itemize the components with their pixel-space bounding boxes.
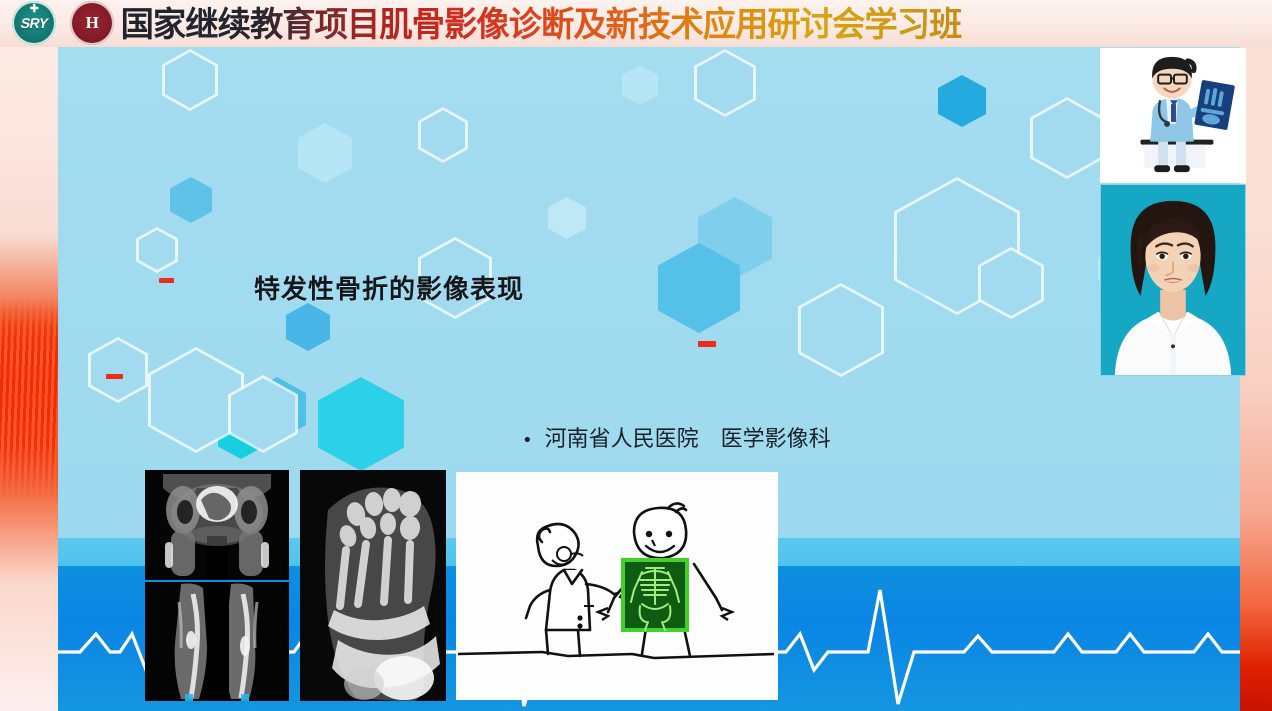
annotation-mark (106, 374, 123, 379)
hexagon-outline-icon (88, 337, 148, 403)
banner-title: 国家继续教育项目肌骨影像诊断及新技术应用研讨会学习班 (121, 0, 962, 45)
banner-logo-group: SRY H (12, 1, 114, 45)
event-banner: SRY H 国家继续教育项目肌骨影像诊断及新技术应用研讨会学习班 (0, 0, 1272, 47)
presentation-slide: 特发性骨折的影像表现 •河南省人民医院 医学影像科 •张旭静 (58, 47, 1240, 711)
hexagon-filled-icon (698, 197, 772, 279)
hexagon-filled-icon (298, 123, 352, 183)
annotation-mark (698, 341, 716, 347)
hexagon-outline-icon (162, 49, 218, 111)
sry-logo-text: SRY (19, 15, 49, 31)
hexagon-outline-icon (798, 283, 884, 377)
hexagon-filled-icon (908, 261, 940, 297)
hexagon-filled-icon (318, 377, 404, 471)
hexagon-filled-icon (248, 377, 306, 441)
hexagon-outline-icon (228, 375, 298, 453)
hexagon-outline-icon (694, 49, 756, 117)
hexagon-filled-icon (286, 303, 330, 351)
mri-legs-image (145, 582, 289, 701)
henan-logo-text: H (86, 13, 99, 33)
sry-hospital-logo: SRY (12, 1, 56, 45)
hexagon-filled-icon (218, 409, 264, 459)
hexagon-filled-icon (548, 197, 586, 239)
presenter-portrait (1101, 185, 1245, 375)
doctor-illustration-icon (1101, 49, 1245, 182)
hexagon-outline-icon (1030, 97, 1104, 179)
page-title: 特发性骨折的影像表现 (254, 269, 524, 306)
doctor-patient-cartoon (456, 472, 778, 700)
presenter-camera-tile[interactable] (1100, 184, 1246, 376)
background-left-texture (0, 300, 62, 500)
hexagon-outline-icon (418, 107, 468, 163)
henan-hospital-logo: H (70, 1, 114, 45)
mri-pelvis-image (145, 470, 289, 580)
hexagon-filled-icon (658, 243, 740, 333)
hexagon-filled-icon (622, 65, 658, 105)
background-left-gradient (0, 0, 62, 711)
hexagon-filled-icon (894, 233, 924, 267)
hexagon-outline-icon (136, 227, 178, 273)
doctor-illustration-tile[interactable] (1100, 48, 1246, 183)
hexagon-outline-icon (148, 347, 244, 453)
hexagon-outline-icon (978, 247, 1044, 319)
hexagon-filled-icon (938, 75, 986, 127)
hexagon-filled-icon (170, 177, 212, 223)
xray-foot-image (300, 470, 446, 701)
webcast-stage: SRY H 国家继续教育项目肌骨影像诊断及新技术应用研讨会学习班 (0, 0, 1272, 711)
annotation-mark (159, 278, 174, 283)
hexagon-outline-icon (894, 177, 1020, 315)
bullet-text: 河南省人民医院 医学影像科 (545, 427, 831, 452)
bullet-marker: • (522, 430, 533, 451)
slide-bullet-affiliation: •河南省人民医院 医学影像科 (522, 421, 831, 453)
